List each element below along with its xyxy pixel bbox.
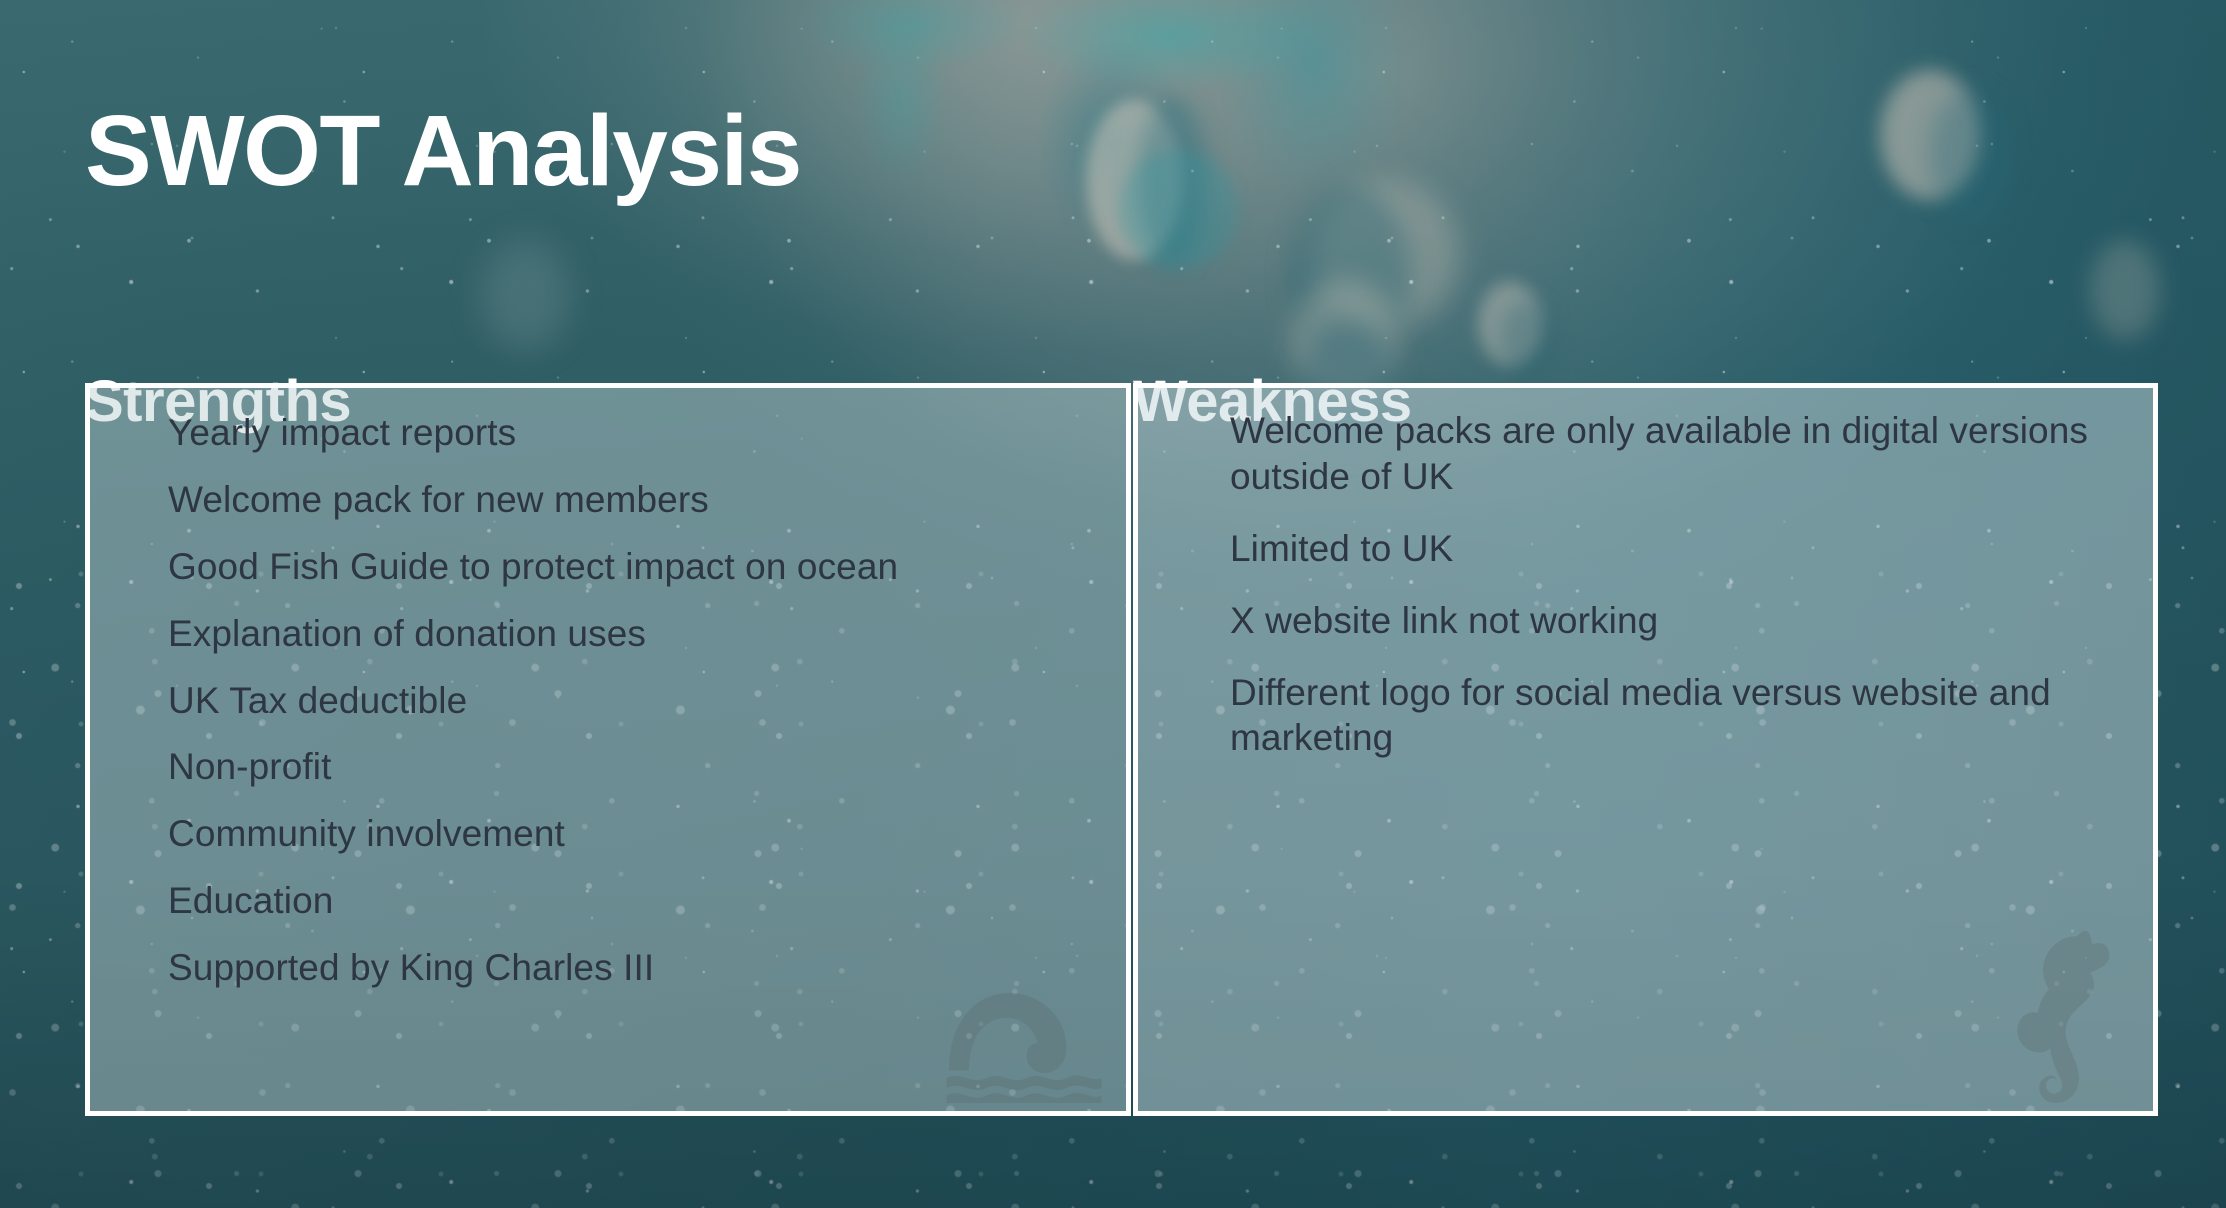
weakness-list: Welcome packs are only available in digi… bbox=[1230, 408, 2117, 787]
list-item: Welcome packs are only available in digi… bbox=[1230, 408, 2117, 500]
list-item: Good Fish Guide to protect impact on oce… bbox=[168, 544, 1104, 590]
list-item: X website link not working bbox=[1230, 598, 2117, 644]
list-item: Welcome pack for new members bbox=[168, 477, 1104, 523]
list-item: Different logo for social media versus w… bbox=[1230, 670, 2117, 762]
list-item: UK Tax deductible bbox=[168, 678, 1104, 724]
weakness-panel: Welcome packs are only available in digi… bbox=[1133, 383, 2158, 1116]
swot-analysis-slide: SWOT Analysis Strengths Yearly impact re… bbox=[0, 0, 2226, 1208]
quadrant-weakness: Weakness Welcome packs are only availabl… bbox=[1133, 325, 2158, 1125]
list-item: Community involvement bbox=[168, 811, 1104, 857]
list-item: Explanation of donation uses bbox=[168, 611, 1104, 657]
list-item: Yearly impact reports bbox=[168, 410, 1104, 456]
seahorse-icon bbox=[2013, 928, 2123, 1103]
list-item: Education bbox=[168, 878, 1104, 924]
strengths-list: Yearly impact reports Welcome pack for n… bbox=[168, 410, 1104, 1012]
strengths-panel: Yearly impact reports Welcome pack for n… bbox=[85, 383, 1131, 1116]
list-item: Non-profit bbox=[168, 744, 1104, 790]
list-item: Supported by King Charles III bbox=[168, 945, 1104, 991]
page-title: SWOT Analysis bbox=[85, 95, 801, 207]
list-item: Limited to UK bbox=[1230, 526, 2117, 572]
quadrant-strengths: Strengths Yearly impact reports Welcome … bbox=[85, 325, 1131, 1125]
